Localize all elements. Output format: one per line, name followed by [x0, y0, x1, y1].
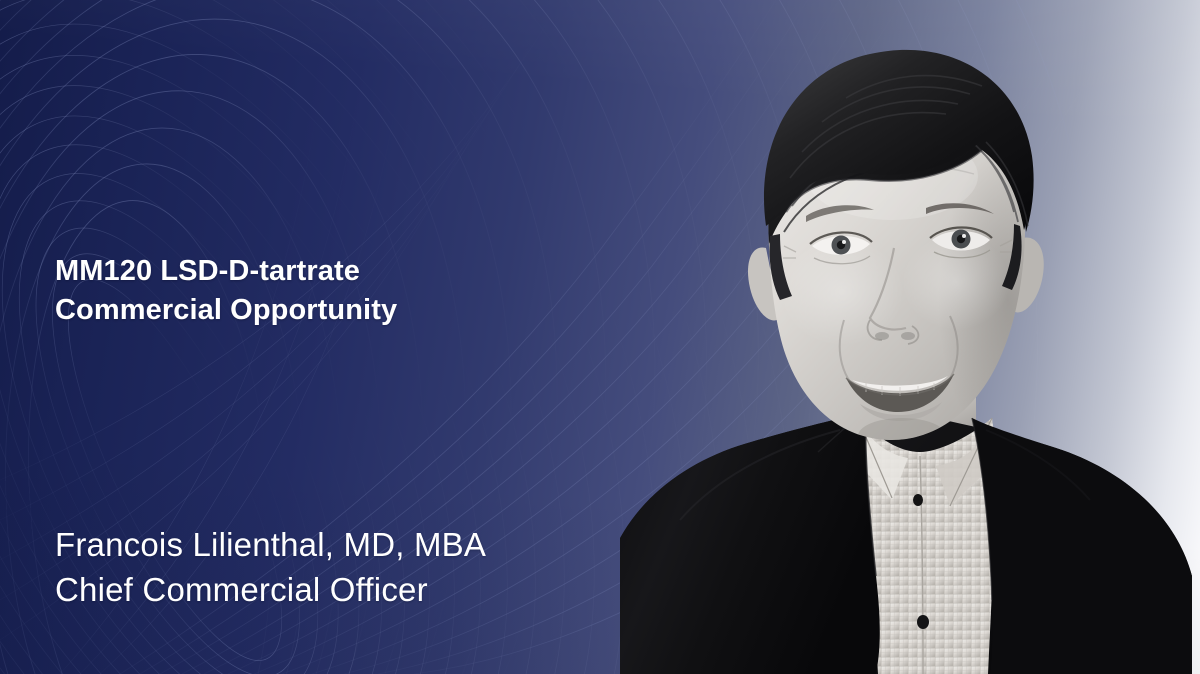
presenter-role: Chief Commercial Officer [55, 567, 655, 612]
presenter-name: Francois Lilienthal, MD, MBA [55, 522, 655, 567]
title-line-2: Commercial Opportunity [55, 291, 615, 330]
title-slide: MM120 LSD-D-tartrate Commercial Opportun… [0, 0, 1200, 674]
presenter-block: Francois Lilienthal, MD, MBA Chief Comme… [55, 522, 655, 612]
title-line-1: MM120 LSD-D-tartrate [55, 252, 615, 291]
slide-title: MM120 LSD-D-tartrate Commercial Opportun… [55, 252, 615, 330]
